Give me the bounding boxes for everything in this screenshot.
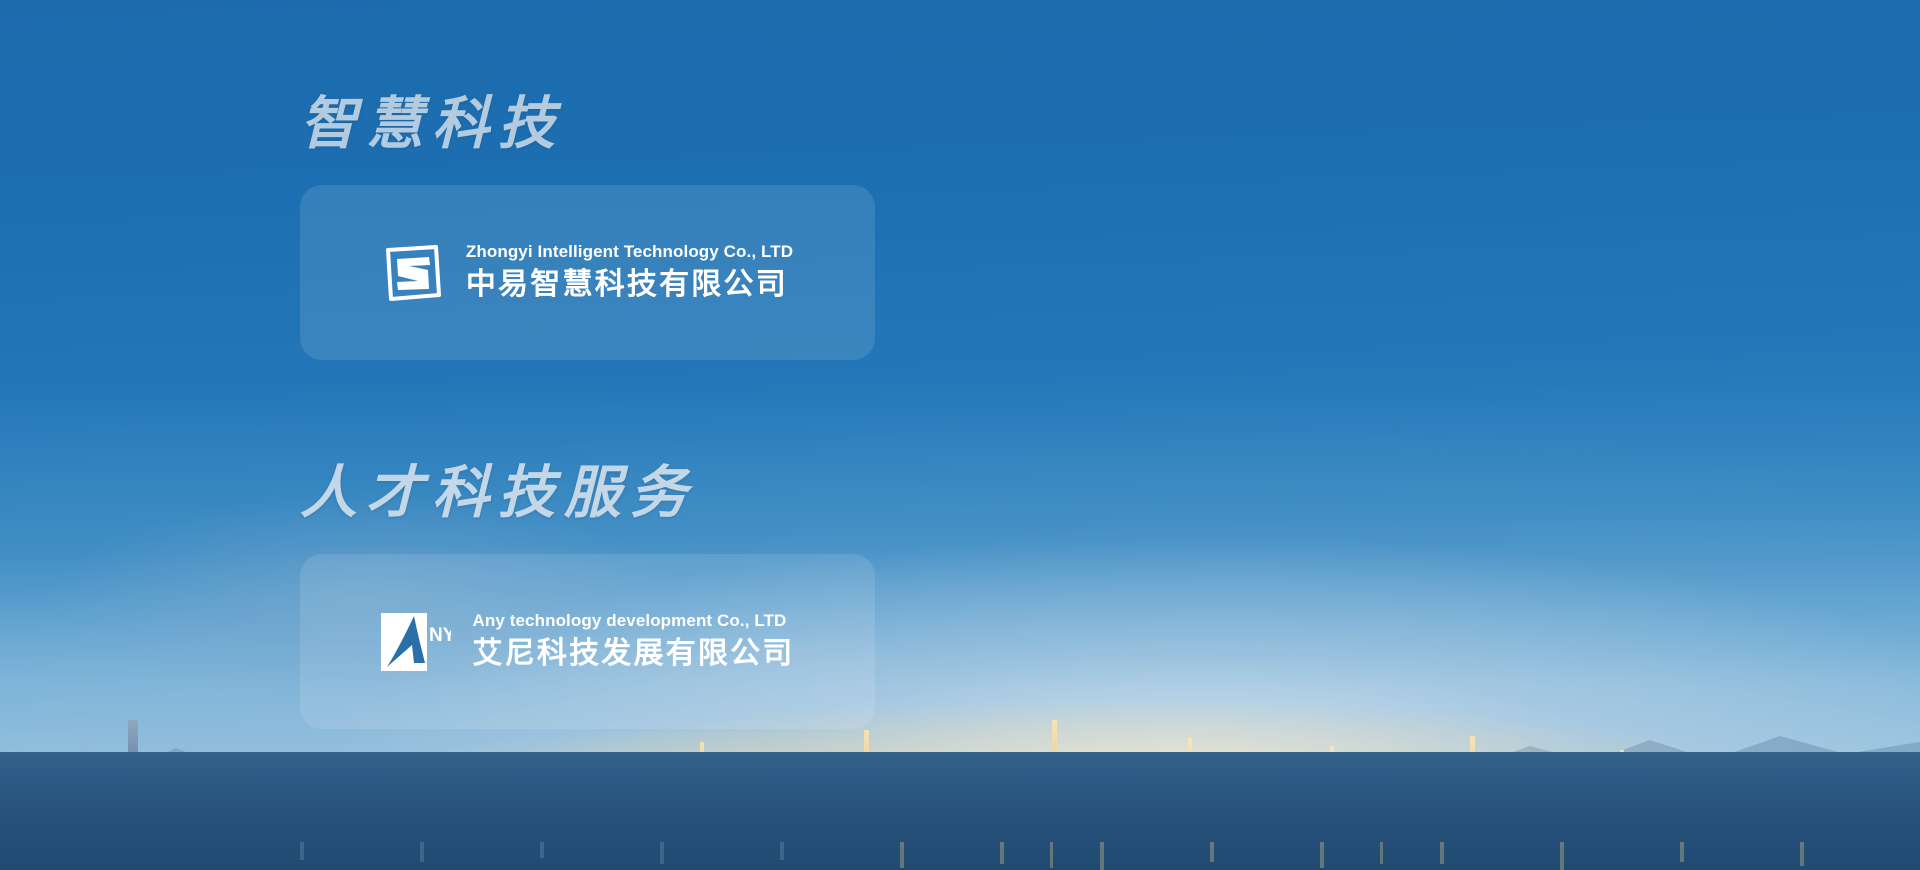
zhongyi-z-square-logo xyxy=(382,242,444,304)
company-card-any-technology[interactable]: NY Any technology development Co., LTD 艾… xyxy=(300,554,875,729)
segment-panel-fmcg: 快消品 砚 香 ® Yanxiang trading Co., LTD 砚香贸易… xyxy=(875,0,1920,435)
segment-heading-smart-technology: 智慧科技 xyxy=(300,96,564,153)
segment-panel-real-estate: 房地产开发 Yanxiang real estate development C… xyxy=(875,435,1920,729)
company-name-cn: 中易智慧科技有限公司 xyxy=(466,265,793,304)
page-root: 智慧科技 Zhongyi Intelligent Technology Co.,… xyxy=(0,0,1920,870)
company-name-en: Zhongyi Intelligent Technology Co., LTD xyxy=(466,241,793,262)
company-names-zhongyi: Zhongyi Intelligent Technology Co., LTD … xyxy=(466,241,793,303)
company-name-cn: 艾尼科技发展有限公司 xyxy=(473,634,795,673)
company-names-any-technology: Any technology development Co., LTD 艾尼科技… xyxy=(473,610,795,672)
company-card-zhongyi[interactable]: Zhongyi Intelligent Technology Co., LTD … xyxy=(300,185,875,360)
segments-grid: 智慧科技 Zhongyi Intelligent Technology Co.,… xyxy=(0,0,1920,870)
segment-heading-talent-services: 人才科技服务 xyxy=(300,465,696,522)
company-name-en: Any technology development Co., LTD xyxy=(473,610,795,631)
any-logo-text: NY xyxy=(429,625,451,646)
segment-panel-smart-technology: 智慧科技 Zhongyi Intelligent Technology Co.,… xyxy=(0,0,875,435)
segment-panel-talent-services: 人才科技服务 NY Any technology development Co.… xyxy=(0,435,875,729)
any-mountain-logo: NY xyxy=(381,610,451,674)
